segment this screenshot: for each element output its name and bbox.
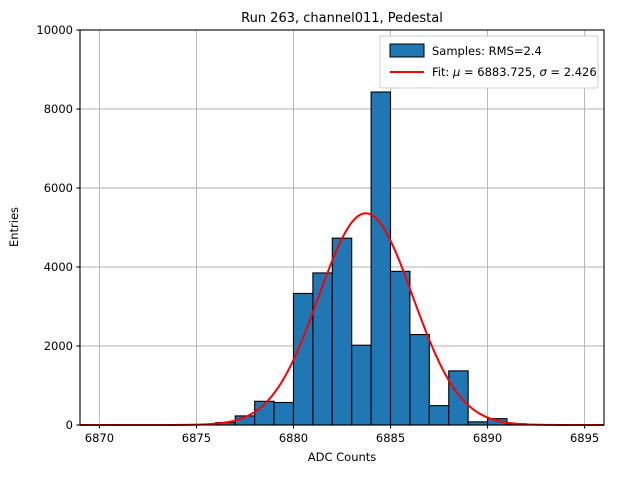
- y-tick-label: 6000: [44, 181, 73, 195]
- histogram-bar: [429, 406, 448, 425]
- histogram-bar: [371, 92, 390, 425]
- x-tick-label: 6895: [570, 431, 599, 445]
- histogram-bar: [332, 238, 351, 425]
- x-tick-label: 6875: [182, 431, 211, 445]
- y-axis-label: Entries: [7, 207, 21, 247]
- y-tick-label: 2000: [44, 339, 73, 353]
- matplotlib-figure: Run 263, channel011, Pedestal 6870687568…: [0, 0, 640, 480]
- histogram-bar: [449, 371, 468, 425]
- legend[interactable]: Samples: RMS=2.4 Fit: μ = 6883.725, σ = …: [380, 36, 598, 88]
- legend-swatch-samples: [390, 44, 424, 57]
- legend-label-samples: Samples: RMS=2.4: [432, 44, 542, 58]
- x-tick-label: 6880: [279, 431, 308, 445]
- y-tick-label: 8000: [44, 102, 73, 116]
- histogram-chart: Run 263, channel011, Pedestal 6870687568…: [0, 0, 640, 480]
- y-tick-label: 4000: [44, 260, 73, 274]
- histogram-bar: [352, 345, 371, 425]
- histogram-bar: [410, 335, 429, 425]
- histogram-bar: [293, 293, 312, 425]
- x-tick-label: 6870: [85, 431, 114, 445]
- y-tick-label: 0: [66, 418, 73, 432]
- x-tick-label: 6890: [473, 431, 502, 445]
- x-tick-label: 6885: [376, 431, 405, 445]
- histogram-bar: [274, 402, 293, 425]
- legend-label-fit: Fit: μ = 6883.725, σ = 2.426: [432, 65, 597, 79]
- histogram-bar: [391, 271, 410, 425]
- histogram-bar: [313, 273, 332, 425]
- y-tick-label: 10000: [36, 23, 73, 37]
- x-axis-label: ADC Counts: [308, 450, 377, 464]
- chart-title: Run 263, channel011, Pedestal: [241, 11, 443, 26]
